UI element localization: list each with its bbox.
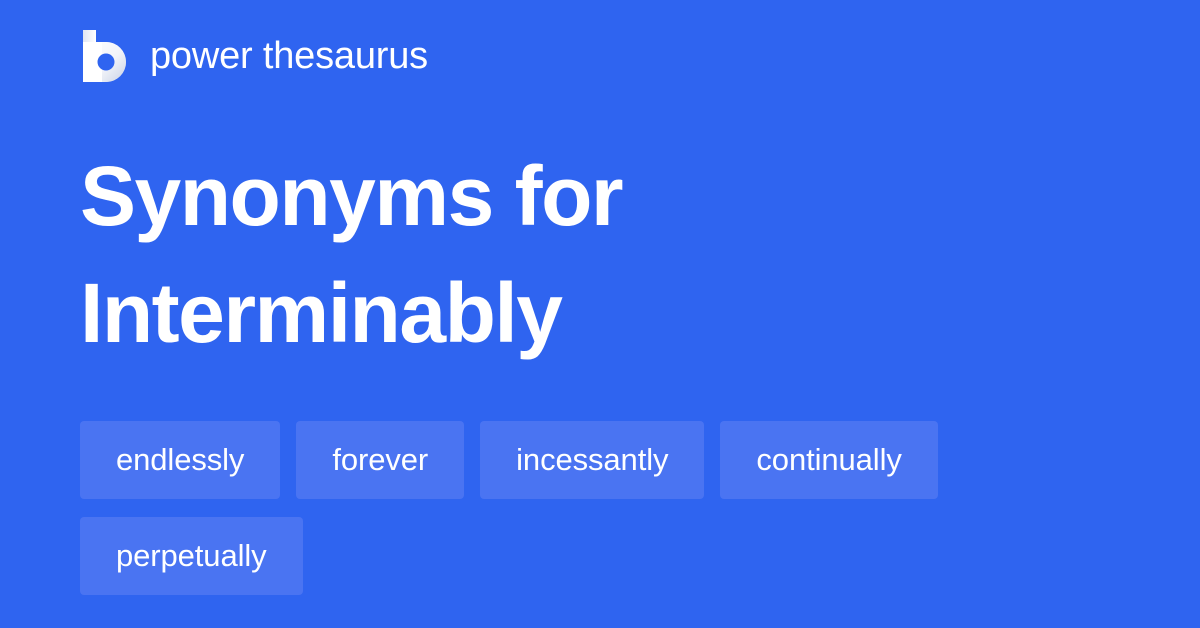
page-title-line-2: Interminably — [80, 255, 1120, 372]
synonym-chip[interactable]: endlessly — [80, 421, 280, 499]
synonym-chip[interactable]: continually — [720, 421, 937, 499]
power-thesaurus-b-logo-icon — [80, 30, 130, 82]
brand-logo[interactable]: power thesaurus — [80, 28, 428, 84]
brand-name: power thesaurus — [150, 33, 428, 79]
synonym-chip-list: endlessly forever incessantly continuall… — [80, 421, 1120, 595]
synonym-chip[interactable]: forever — [296, 421, 464, 499]
synonym-chip[interactable]: perpetually — [80, 517, 303, 595]
page-title-line-1: Synonyms for — [80, 138, 1120, 255]
share-card: power thesaurus Synonyms for Interminabl… — [0, 0, 1200, 628]
page-title: Synonyms for Interminably — [80, 138, 1120, 372]
synonym-chip[interactable]: incessantly — [480, 421, 704, 499]
